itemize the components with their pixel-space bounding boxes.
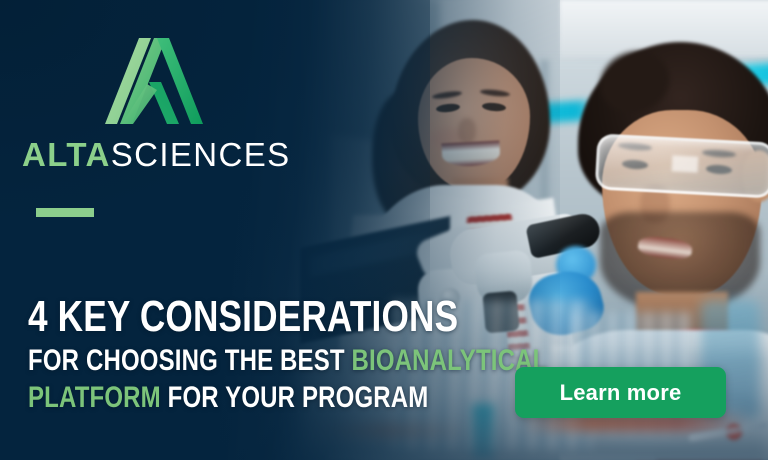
headline-line-2-white: FOR CHOOSING THE BEST (28, 344, 352, 377)
headline-line-3: PLATFORM FOR YOUR PROGRAM (28, 383, 404, 414)
headline-line-3-green: PLATFORM (28, 381, 161, 414)
headline: 4 KEY CONSIDERATIONS FOR CHOOSING THE BE… (28, 296, 498, 413)
advertisement-banner[interactable]: ALTASCIENCES 4 KEY CONSIDERATIONS FOR CH… (0, 0, 768, 460)
altasciences-logo[interactable]: ALTASCIENCES (22, 34, 284, 171)
logo-brand-secondary: SCIENCES (111, 136, 291, 173)
headline-line-1: 4 KEY CONSIDERATIONS (28, 296, 404, 338)
altasciences-a-mark-icon (97, 34, 209, 132)
learn-more-button[interactable]: Learn more (515, 367, 726, 418)
green-rule (36, 208, 94, 217)
headline-line-3-white: FOR YOUR PROGRAM (161, 381, 429, 414)
headline-line-2: FOR CHOOSING THE BEST BIOANALYTICAL (28, 346, 404, 377)
banner-content: ALTASCIENCES 4 KEY CONSIDERATIONS FOR CH… (0, 0, 768, 460)
logo-brand-primary: ALTA (22, 136, 111, 173)
